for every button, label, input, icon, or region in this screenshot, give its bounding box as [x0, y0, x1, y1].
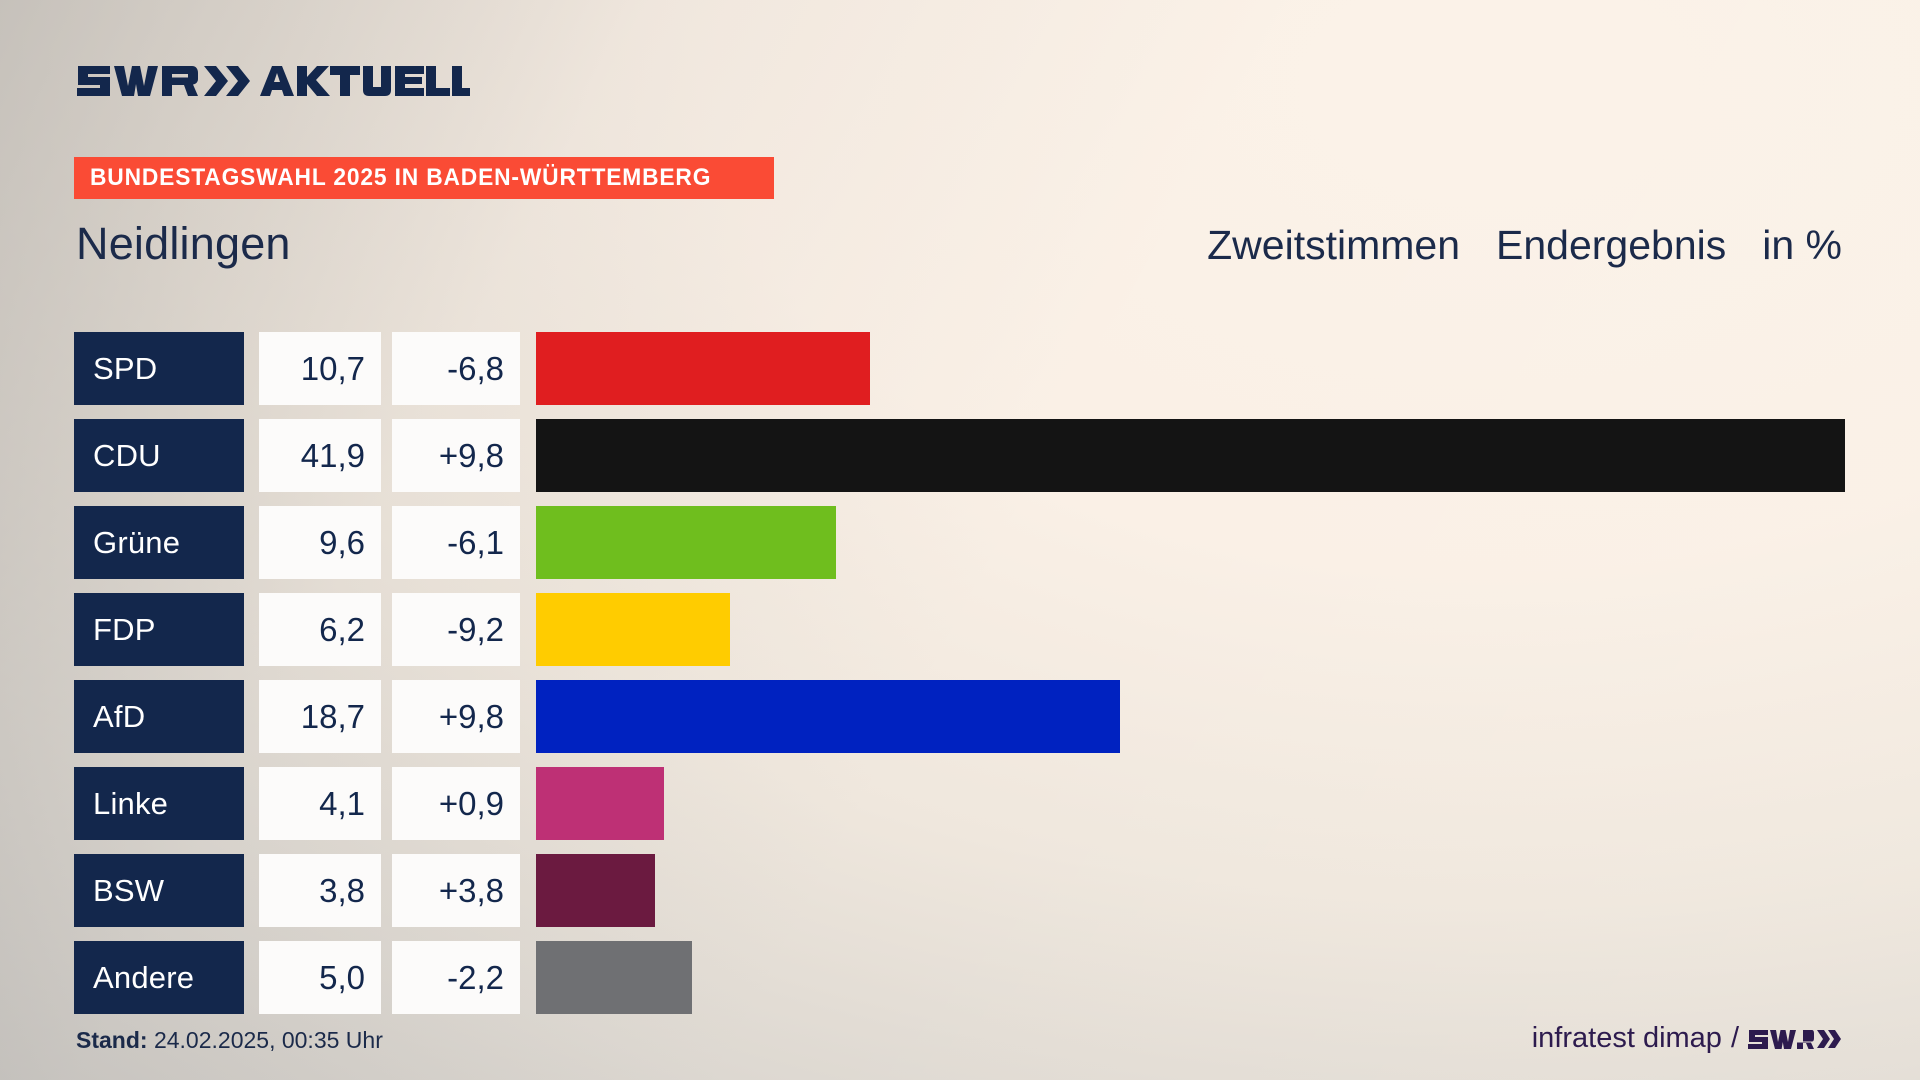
source-institute: infratest dimap	[1532, 1022, 1722, 1055]
difference-value-label: +9,8	[439, 439, 504, 472]
party-name-cell: FDP	[74, 593, 244, 666]
result-value-label: 4,1	[319, 787, 365, 820]
result-bar	[536, 419, 1845, 492]
swr-aktuell-logo-ll	[424, 56, 470, 102]
party-name-label: Linke	[93, 788, 168, 819]
difference-value-cell: +9,8	[392, 419, 520, 492]
difference-value-label: -9,2	[447, 613, 504, 646]
infographic-stage: BUNDESTAGSWAHL 2025 IN BADEN-WÜRTTEMBERG…	[0, 0, 1920, 1080]
party-name-cell: Linke	[74, 767, 244, 840]
result-value-cell: 9,6	[259, 506, 381, 579]
unit-label: in %	[1762, 222, 1842, 269]
result-value-cell: 3,8	[259, 854, 381, 927]
result-value-label: 18,7	[301, 700, 365, 733]
difference-value-cell: +3,8	[392, 854, 520, 927]
difference-value-cell: -9,2	[392, 593, 520, 666]
chevron-double-right-icon	[1816, 1026, 1842, 1052]
difference-value-label: -6,1	[447, 526, 504, 559]
result-value-cell: 4,1	[259, 767, 381, 840]
source-swr-logo	[1748, 1025, 1842, 1053]
difference-value-cell: -6,8	[392, 332, 520, 405]
source-attribution: infratest dimap /	[1532, 1022, 1842, 1055]
result-bar	[536, 767, 664, 840]
result-value-label: 5,0	[319, 961, 365, 994]
result-value-cell: 10,7	[259, 332, 381, 405]
party-name-label: FDP	[93, 614, 156, 645]
party-name-cell: BSW	[74, 854, 244, 927]
kicker-label: BUNDESTAGSWAHL 2025 IN BADEN-WÜRTTEMBERG	[90, 164, 711, 192]
result-value-cell: 41,9	[259, 419, 381, 492]
swr-aktuell-logo-svg	[76, 56, 428, 102]
result-value-cell: 18,7	[259, 680, 381, 753]
result-bar	[536, 506, 836, 579]
stand-label: Stand:	[76, 1027, 148, 1053]
difference-value-cell: -6,1	[392, 506, 520, 579]
swr-aktuell-logo	[76, 57, 470, 101]
result-bar	[536, 593, 730, 666]
source-separator: /	[1731, 1022, 1739, 1055]
difference-value-cell: +0,9	[392, 767, 520, 840]
party-name-label: SPD	[93, 353, 157, 384]
difference-value-cell: +9,8	[392, 680, 520, 753]
stand-value: 24.02.2025, 00:35 Uhr	[154, 1027, 383, 1053]
difference-value-label: +0,9	[439, 787, 504, 820]
result-bar	[536, 941, 692, 1014]
difference-value-label: +9,8	[439, 700, 504, 733]
result-value-label: 3,8	[319, 874, 365, 907]
result-value-cell: 5,0	[259, 941, 381, 1014]
party-name-label: BSW	[93, 875, 164, 906]
result-value-label: 9,6	[319, 526, 365, 559]
place-title: Neidlingen	[76, 218, 291, 270]
swr-mini-logo-icon	[1748, 1025, 1814, 1053]
result-value-label: 6,2	[319, 613, 365, 646]
result-bar	[536, 854, 655, 927]
chart-subtitle: Zweitstimmen Endergebnis in %	[1207, 222, 1842, 269]
result-bar	[536, 332, 870, 405]
party-name-cell: AfD	[74, 680, 244, 753]
status-label: Endergebnis	[1496, 222, 1726, 269]
kicker-banner: BUNDESTAGSWAHL 2025 IN BADEN-WÜRTTEMBERG	[74, 157, 774, 199]
stand-footer: Stand: 24.02.2025, 00:35 Uhr	[76, 1027, 383, 1054]
difference-value-label: +3,8	[439, 874, 504, 907]
result-bar	[536, 680, 1120, 753]
result-value-label: 10,7	[301, 352, 365, 385]
difference-value-cell: -2,2	[392, 941, 520, 1014]
party-name-cell: CDU	[74, 419, 244, 492]
result-value-label: 41,9	[301, 439, 365, 472]
party-name-label: Andere	[93, 962, 194, 993]
vote-type-label: Zweitstimmen	[1207, 222, 1460, 269]
result-value-cell: 6,2	[259, 593, 381, 666]
party-name-cell: Andere	[74, 941, 244, 1014]
party-name-label: Grüne	[93, 527, 180, 558]
party-name-cell: SPD	[74, 332, 244, 405]
party-name-label: CDU	[93, 440, 161, 471]
difference-value-label: -2,2	[447, 961, 504, 994]
difference-value-label: -6,8	[447, 352, 504, 385]
party-name-cell: Grüne	[74, 506, 244, 579]
party-name-label: AfD	[93, 701, 145, 732]
